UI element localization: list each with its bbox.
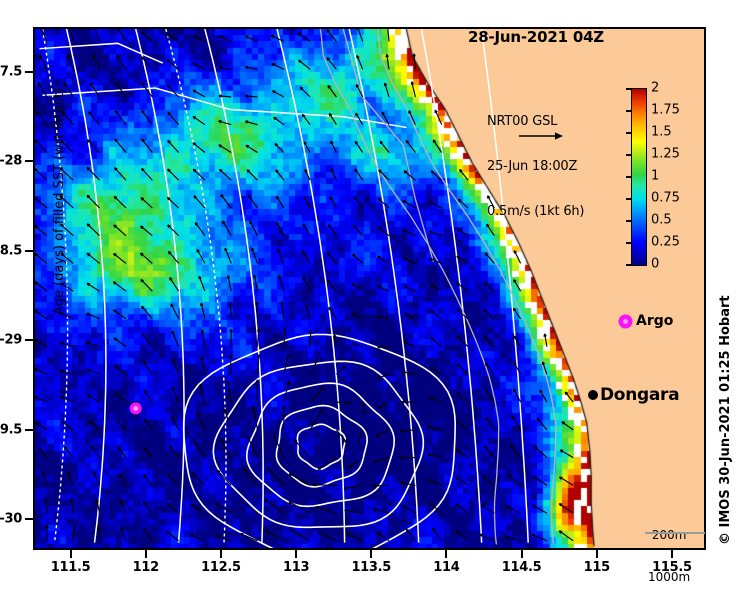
current-vector [142, 83, 153, 97]
current-vector [458, 199, 468, 208]
current-vector [117, 55, 126, 69]
current-vector [247, 170, 257, 181]
current-vector [354, 197, 362, 208]
current-vector [265, 531, 284, 541]
current-vector [401, 430, 416, 432]
current-vector [87, 313, 100, 319]
current-vector [284, 329, 286, 347]
current-vector [380, 141, 389, 152]
current-vector [121, 527, 126, 541]
current-vector [403, 230, 416, 236]
current-vector [403, 258, 415, 263]
current-vector [142, 139, 152, 152]
current-vector [457, 421, 468, 430]
current-vector [144, 390, 152, 402]
current-vector [353, 254, 363, 263]
current-vector [35, 282, 47, 291]
colorbar-title: Age (days) of filled SST (wrt latest) [52, 88, 67, 315]
current-vector [560, 450, 573, 458]
current-vector [355, 141, 362, 152]
current-vector [245, 121, 257, 125]
current-vector [298, 33, 310, 42]
current-vector [142, 111, 152, 125]
current-vector [141, 198, 152, 208]
colorbar-tick-label-1: 1.75 [651, 103, 680, 118]
current-vector [46, 525, 49, 541]
y-tick [25, 160, 33, 162]
current-vector [199, 276, 205, 291]
current-vector [41, 29, 47, 42]
current-vector [256, 380, 259, 402]
current-vector [481, 505, 495, 513]
colorbar-tick-label-5: 0.75 [651, 191, 680, 206]
current-vector [167, 531, 179, 541]
colorbar-tick-label-4: 1 [651, 169, 659, 184]
current-vector [331, 169, 336, 180]
current-vector [327, 252, 336, 263]
current-vector [374, 458, 389, 463]
current-vector [460, 169, 468, 180]
current-vector [429, 231, 442, 236]
current-vector [265, 499, 284, 513]
current-vector [168, 85, 179, 97]
y-tick-label-3: -29 [0, 333, 22, 348]
current-vector [246, 36, 258, 41]
current-vector [71, 499, 74, 513]
current-vector [45, 498, 47, 513]
current-vector [195, 443, 205, 458]
current-vector [329, 113, 336, 124]
velocity-scale-arrow-icon [519, 131, 563, 141]
current-vector [284, 355, 289, 374]
current-vector [514, 280, 521, 292]
current-vector [192, 473, 205, 485]
current-vector [377, 532, 389, 541]
current-vector [90, 83, 99, 97]
ssh-contour-shelf-1 [136, 29, 184, 543]
current-vector [229, 303, 231, 319]
current-vector [378, 286, 389, 291]
current-vector [98, 526, 101, 540]
current-vector [456, 530, 468, 540]
current-vector [35, 397, 47, 402]
current-vector [355, 169, 363, 180]
current-vector [114, 196, 126, 208]
current-vector [302, 251, 310, 264]
current-vector [141, 253, 153, 263]
current-vector [215, 536, 231, 541]
current-vector [272, 64, 284, 70]
current-vector [87, 195, 100, 208]
current-vector [113, 282, 126, 291]
current-vector [289, 474, 310, 486]
current-vector [115, 168, 126, 181]
colorbar-tick-label-8: 0 [651, 257, 659, 272]
x-tick-label-3: 113 [283, 560, 309, 575]
y-tick-label-1: -28 [0, 154, 22, 169]
colorbar-tick [626, 264, 631, 266]
current-vector [456, 504, 468, 513]
current-vector [484, 282, 494, 291]
x-tick-label-4: 113.5 [351, 560, 391, 575]
current-vector [252, 248, 258, 264]
current-vector [35, 169, 47, 181]
current-vector [168, 140, 179, 152]
current-vector [116, 393, 126, 402]
current-vector [254, 275, 258, 291]
current-vector [195, 223, 205, 236]
current-vector [544, 334, 547, 347]
y-tick [25, 339, 33, 341]
current-vector [328, 86, 336, 98]
current-vector [562, 422, 573, 430]
current-vector [201, 330, 205, 347]
current-vector [168, 169, 179, 180]
dongara-city-dot[interactable] [588, 390, 598, 400]
current-vector [403, 371, 416, 374]
current-vector [167, 34, 179, 41]
current-vector [300, 87, 310, 97]
current-vector [559, 531, 573, 541]
current-vector [456, 450, 468, 458]
current-vector [271, 35, 284, 41]
current-vector [537, 418, 547, 430]
current-vector [378, 402, 389, 408]
y-tick [25, 518, 33, 520]
current-vector [535, 447, 547, 458]
colorbar-gradient [631, 88, 647, 266]
current-vector [299, 60, 311, 69]
current-vector [88, 395, 100, 402]
current-vector [219, 67, 231, 70]
current-vector [93, 55, 100, 70]
colorbar-tick [626, 88, 631, 90]
y-tick [25, 429, 33, 431]
current-vector [303, 224, 310, 236]
colorbar-tick-label-2: 1.5 [651, 125, 672, 140]
x-tick [521, 550, 523, 558]
current-vector [345, 510, 363, 514]
argo-marker-legend-icon[interactable] [620, 316, 631, 327]
current-vector [143, 528, 152, 541]
current-vector [117, 420, 126, 430]
current-vector [68, 472, 73, 485]
current-vector [430, 202, 442, 208]
current-vector [39, 447, 47, 457]
current-vector [336, 366, 345, 374]
current-vector [193, 90, 205, 97]
current-vector [305, 303, 310, 319]
colorbar-tick-label-6: 0.5 [651, 213, 672, 228]
x-tick-label-0: 111.5 [51, 560, 91, 575]
current-vector [35, 340, 47, 347]
current-vector [35, 140, 47, 153]
current-vector [386, 54, 389, 69]
current-vector [363, 402, 365, 414]
current-vector [65, 447, 74, 458]
current-vector [94, 473, 100, 486]
current-vector [201, 303, 205, 319]
current-vector [511, 445, 521, 458]
scalebar-rule [645, 532, 705, 534]
current-vector [304, 197, 310, 208]
current-vector [427, 454, 441, 458]
current-vector [430, 284, 441, 291]
current-vector [354, 225, 363, 236]
current-vector [272, 91, 283, 97]
current-vector [277, 223, 284, 236]
current-vector [357, 29, 362, 42]
x-tick-label-1: 112 [133, 560, 159, 575]
ssh-contour-shelf-2 [205, 29, 263, 543]
current-vector [114, 338, 126, 347]
current-vector [115, 139, 126, 153]
current-vector [220, 169, 232, 180]
current-vector [142, 168, 153, 180]
current-vector [169, 251, 179, 263]
current-vector [144, 448, 152, 458]
current-vector [431, 310, 442, 319]
current-vector [402, 506, 415, 513]
current-vector [144, 502, 153, 513]
current-vector [294, 440, 310, 458]
current-vector [404, 286, 415, 292]
current-vector [223, 221, 232, 236]
current-vector [142, 57, 153, 70]
map-overlays [35, 29, 704, 548]
x-tick [596, 550, 598, 558]
current-vector [484, 337, 494, 347]
current-vector [115, 366, 126, 375]
current-vector [377, 316, 389, 319]
ssh-contour-shelf-0 [67, 29, 106, 543]
current-vector [219, 95, 231, 97]
colorbar-tick-label-0: 2 [651, 81, 659, 96]
current-vector [428, 397, 441, 402]
y-tick-label-2: -28.5 [0, 243, 22, 258]
current-vector [302, 114, 310, 125]
current-vector [378, 346, 390, 348]
current-vector [309, 331, 311, 347]
current-vector [457, 393, 468, 402]
current-vector [61, 397, 74, 403]
current-vector [406, 140, 415, 152]
current-vector [62, 422, 73, 430]
current-vector [514, 251, 520, 264]
current-vector [358, 430, 363, 444]
current-vector [433, 528, 442, 541]
current-vector [303, 277, 310, 291]
current-vector [428, 479, 442, 485]
current-vector [35, 254, 47, 264]
current-vector [173, 359, 179, 375]
current-vector [540, 390, 547, 402]
current-vector [118, 447, 126, 458]
current-vector [37, 111, 47, 124]
current-vector [281, 302, 284, 319]
y-tick [25, 250, 33, 252]
current-vector [42, 472, 47, 485]
current-vector [276, 196, 283, 208]
current-vector [347, 534, 363, 541]
current-vector [532, 505, 547, 513]
current-vector [289, 502, 310, 513]
current-vector [246, 145, 258, 152]
current-vector [225, 248, 231, 263]
current-vector [89, 421, 99, 430]
current-vector [240, 533, 257, 540]
current-vector [171, 304, 179, 319]
y-tick [25, 71, 33, 73]
surface-current-vectors[interactable] [35, 29, 573, 541]
x-tick-label-6: 114.5 [502, 560, 542, 575]
current-vector [327, 280, 336, 291]
current-vector [200, 384, 205, 402]
current-vector [344, 485, 363, 489]
current-vector [411, 82, 415, 97]
ssh-contour-eddy-3 [213, 361, 423, 527]
current-vector [35, 311, 47, 319]
x-tick-label-8: 115.5 [652, 560, 692, 575]
current-vector [334, 334, 337, 346]
current-vector [352, 284, 363, 292]
current-vector [387, 29, 389, 42]
current-vector [279, 275, 284, 291]
current-vector [486, 417, 494, 430]
y-tick-label-5: -30 [0, 512, 22, 527]
current-vector [352, 313, 363, 319]
current-vector [36, 423, 47, 430]
current-vector [559, 477, 573, 486]
current-vector [230, 329, 233, 346]
current-vector [91, 446, 99, 457]
current-vector [168, 475, 179, 485]
current-vector [172, 331, 179, 347]
current-vector [374, 509, 389, 513]
current-vector [40, 55, 47, 69]
current-vector [87, 283, 100, 291]
current-vector [487, 224, 495, 236]
current-vector [193, 36, 205, 42]
current-vector [218, 470, 232, 485]
current-vector [143, 334, 153, 347]
current-vector [35, 369, 47, 375]
current-vector [330, 197, 336, 208]
current-vector [171, 417, 178, 430]
current-vector [276, 170, 284, 180]
current-vector [376, 430, 389, 436]
current-vector [216, 503, 232, 513]
current-vector [87, 224, 100, 236]
ssh-contour-eddy-2 [247, 383, 394, 506]
x-tick [145, 550, 147, 558]
current-vector [532, 534, 547, 541]
current-vector [533, 476, 547, 485]
current-vector [315, 507, 336, 513]
current-vector [87, 369, 100, 374]
x-tick-label-2: 112.5 [201, 560, 241, 575]
current-vector [87, 342, 100, 347]
current-vector [353, 343, 363, 347]
current-vector [310, 409, 322, 430]
current-vector [278, 249, 284, 264]
current-vector [413, 54, 416, 70]
argo-float-inner [133, 406, 138, 411]
current-vector [194, 196, 205, 208]
current-vector [219, 121, 232, 125]
current-vector [505, 536, 521, 541]
current-vector [508, 475, 520, 485]
current-vector [428, 426, 442, 430]
current-vector [248, 195, 257, 208]
current-vector [89, 112, 100, 125]
current-vector [170, 278, 179, 292]
current-vector [198, 413, 205, 430]
current-vector [513, 416, 521, 430]
current-vector [94, 29, 99, 42]
current-vector [488, 196, 495, 208]
current-vector [252, 406, 257, 430]
current-vector [145, 419, 153, 430]
current-vector [114, 225, 126, 236]
x-tick [295, 550, 297, 558]
x-tick [671, 550, 673, 558]
current-vector [197, 249, 205, 263]
current-vector [457, 283, 468, 291]
current-vector [73, 526, 75, 541]
current-vector [191, 535, 205, 541]
colorbar-tick [626, 220, 631, 222]
current-vector [310, 388, 323, 403]
current-vector [87, 253, 99, 263]
current-vector [141, 226, 153, 236]
current-vector [167, 59, 178, 69]
current-vector [170, 446, 179, 458]
current-vector [118, 29, 126, 42]
current-vector [457, 256, 468, 263]
current-vector [220, 36, 232, 42]
current-vector [142, 306, 153, 319]
sst-age-map-figure: 28-Jun-2021 04Z NRT00 GSL 25-Jun 18:00Z … [0, 0, 739, 592]
current-vector [406, 529, 415, 541]
current-vector [318, 532, 337, 541]
x-tick-label-5: 114 [433, 560, 459, 575]
current-vector [430, 258, 442, 263]
map-plot-area[interactable] [33, 27, 706, 550]
current-vector [167, 503, 179, 513]
current-vector [485, 446, 495, 458]
current-vector [219, 145, 231, 153]
argo-float-marker[interactable] [130, 402, 142, 414]
current-vector [457, 364, 468, 374]
current-vector [291, 530, 311, 541]
colorbar-tick-label-7: 0.25 [651, 235, 680, 250]
current-vector [144, 475, 153, 486]
current-vector [172, 388, 178, 403]
x-tick [445, 550, 447, 558]
current-vector [331, 141, 337, 153]
y-tick-label-0: -27.5 [0, 64, 22, 79]
colorbar-tick [626, 132, 631, 134]
x-tick [70, 550, 72, 558]
current-vector [484, 310, 494, 319]
current-vector [506, 506, 520, 513]
current-vector [267, 468, 284, 486]
current-vector [457, 229, 468, 236]
current-vector [404, 342, 416, 347]
current-vector [227, 382, 231, 403]
colorbar-tick [626, 242, 631, 244]
